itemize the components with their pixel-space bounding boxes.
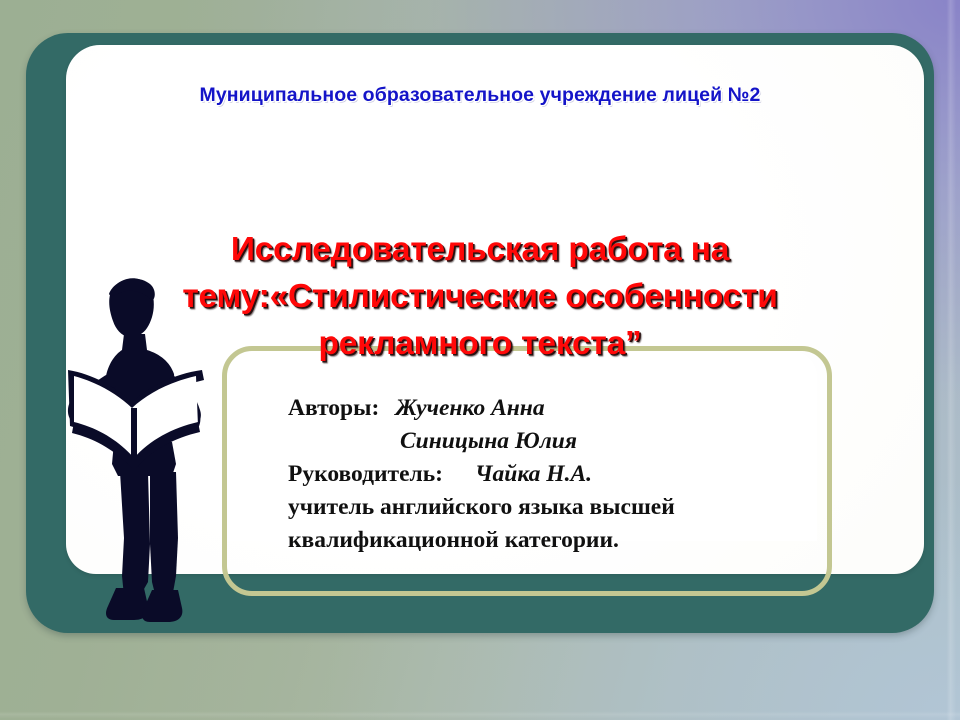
page-title-line-1: Исследовательская работа на bbox=[56, 226, 904, 273]
author-name-2: Синицына Юлия bbox=[400, 428, 577, 454]
presentation-slide: Муниципальное образовательное учреждение… bbox=[0, 0, 960, 720]
credits-role-line-1: учитель английского языка высшей bbox=[288, 491, 848, 524]
authors-label: Авторы: bbox=[288, 395, 379, 421]
person-reading-newspaper-icon bbox=[52, 276, 252, 626]
credits-role-line-2: квалификационной категории. bbox=[288, 524, 848, 557]
supervisor-label: Руководитель: bbox=[288, 461, 443, 487]
supervisor-role-2: квалификационной категории. bbox=[288, 527, 619, 553]
credits-authors-line: Авторы:Жученко Анна bbox=[288, 392, 848, 425]
supervisor-name: Чайка Н.А. bbox=[475, 461, 592, 487]
credits-author-2-line: Синицына Юлия bbox=[288, 425, 848, 458]
author-name-1: Жученко Анна bbox=[395, 395, 544, 421]
credits-supervisor-line: Руководитель:Чайка Н.А. bbox=[288, 458, 848, 491]
institution-header: Муниципальное образовательное учреждение… bbox=[0, 84, 960, 107]
credits-block: Авторы:Жученко Анна Синицына Юлия Руково… bbox=[288, 392, 848, 557]
supervisor-role-1: учитель английского языка высшей bbox=[288, 494, 675, 520]
